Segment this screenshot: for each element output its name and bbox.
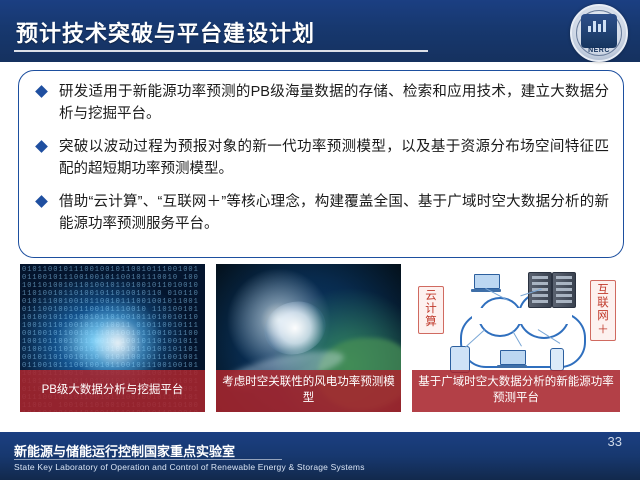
bullet-text: 研发适用于新能源功率预测的PB级海量数据的存储、检索和应用技术，建立大数据分析与… — [59, 84, 609, 122]
slide: 预计技术突破与平台建设计划 NERC 研发适用于新能源功率预测的PB级海量数据的… — [0, 0, 640, 480]
figure-caption: 考虑时空关联性的风电功率预测模型 — [216, 370, 401, 412]
institute-logo: NERC — [570, 4, 628, 62]
phone-icon — [550, 348, 564, 371]
figure-caption: 基于广域时空大数据分析的新能源功率预测平台 — [412, 370, 620, 412]
logo-label: NERC — [572, 47, 626, 54]
server-rack-icon — [552, 272, 576, 308]
figure-typhoon-model: 考虑时空关联性的风电功率预测模型 — [214, 262, 403, 414]
tag-cloud-computing: 云计算 — [418, 286, 444, 334]
laptop-icon — [500, 350, 526, 367]
footer-divider — [14, 459, 282, 460]
tag-internet-plus: 互联网＋ — [590, 280, 616, 341]
cloud-shape-mask — [472, 308, 572, 324]
figure-caption: PB级大数据分析与挖掘平台 — [20, 370, 205, 412]
diamond-bullet-icon — [35, 85, 48, 98]
diamond-bullet-icon — [35, 140, 48, 153]
page-title: 预计技术突破与平台建设计划 — [16, 16, 315, 48]
slide-footer: 新能源与储能运行控制国家重点实验室 State Key Laboratory o… — [0, 432, 640, 480]
slide-header: 预计技术突破与平台建设计划 NERC — [0, 0, 640, 62]
bullet-text: 突破以波动过程为预报对象的新一代功率预测模型，以及基于资源分布场空间特征匹配的超… — [59, 139, 609, 177]
footer-lab-name-en: State Key Laboratory of Operation and Co… — [14, 462, 365, 472]
tablet-icon — [450, 346, 470, 373]
bullet-text: 借助“云计算”、“互联网＋”等核心理念，构建覆盖全国、基于广域时空大数据分析的新… — [59, 194, 609, 232]
logo-bars-icon — [588, 20, 610, 32]
bullet-list: 研发适用于新能源功率预测的PB级海量数据的存储、检索和应用技术，建立大数据分析与… — [33, 81, 609, 246]
diamond-bullet-icon — [35, 195, 48, 208]
figure-strip: 0101100101110010010110010111001001011001… — [18, 262, 622, 414]
title-underline — [14, 50, 428, 52]
list-item: 研发适用于新能源功率预测的PB级海量数据的存储、检索和应用技术，建立大数据分析与… — [33, 81, 609, 126]
figure-cloud-platform: 云计算 互联网＋ 基于广域时空大数据分析的新能源功率预测平台 — [410, 262, 622, 414]
footer-lab-name-cn: 新能源与储能运行控制国家重点实验室 — [14, 441, 235, 460]
list-item: 借助“云计算”、“互联网＋”等核心理念，构建覆盖全国、基于广域时空大数据分析的新… — [33, 191, 609, 236]
list-item: 突破以波动过程为预报对象的新一代功率预测模型，以及基于资源分布场空间特征匹配的超… — [33, 136, 609, 181]
figure-big-data: 0101100101110010010110010111001001011001… — [18, 262, 207, 414]
page-number: 33 — [608, 434, 622, 449]
content-card: 研发适用于新能源功率预测的PB级海量数据的存储、检索和应用技术，建立大数据分析与… — [18, 70, 624, 258]
